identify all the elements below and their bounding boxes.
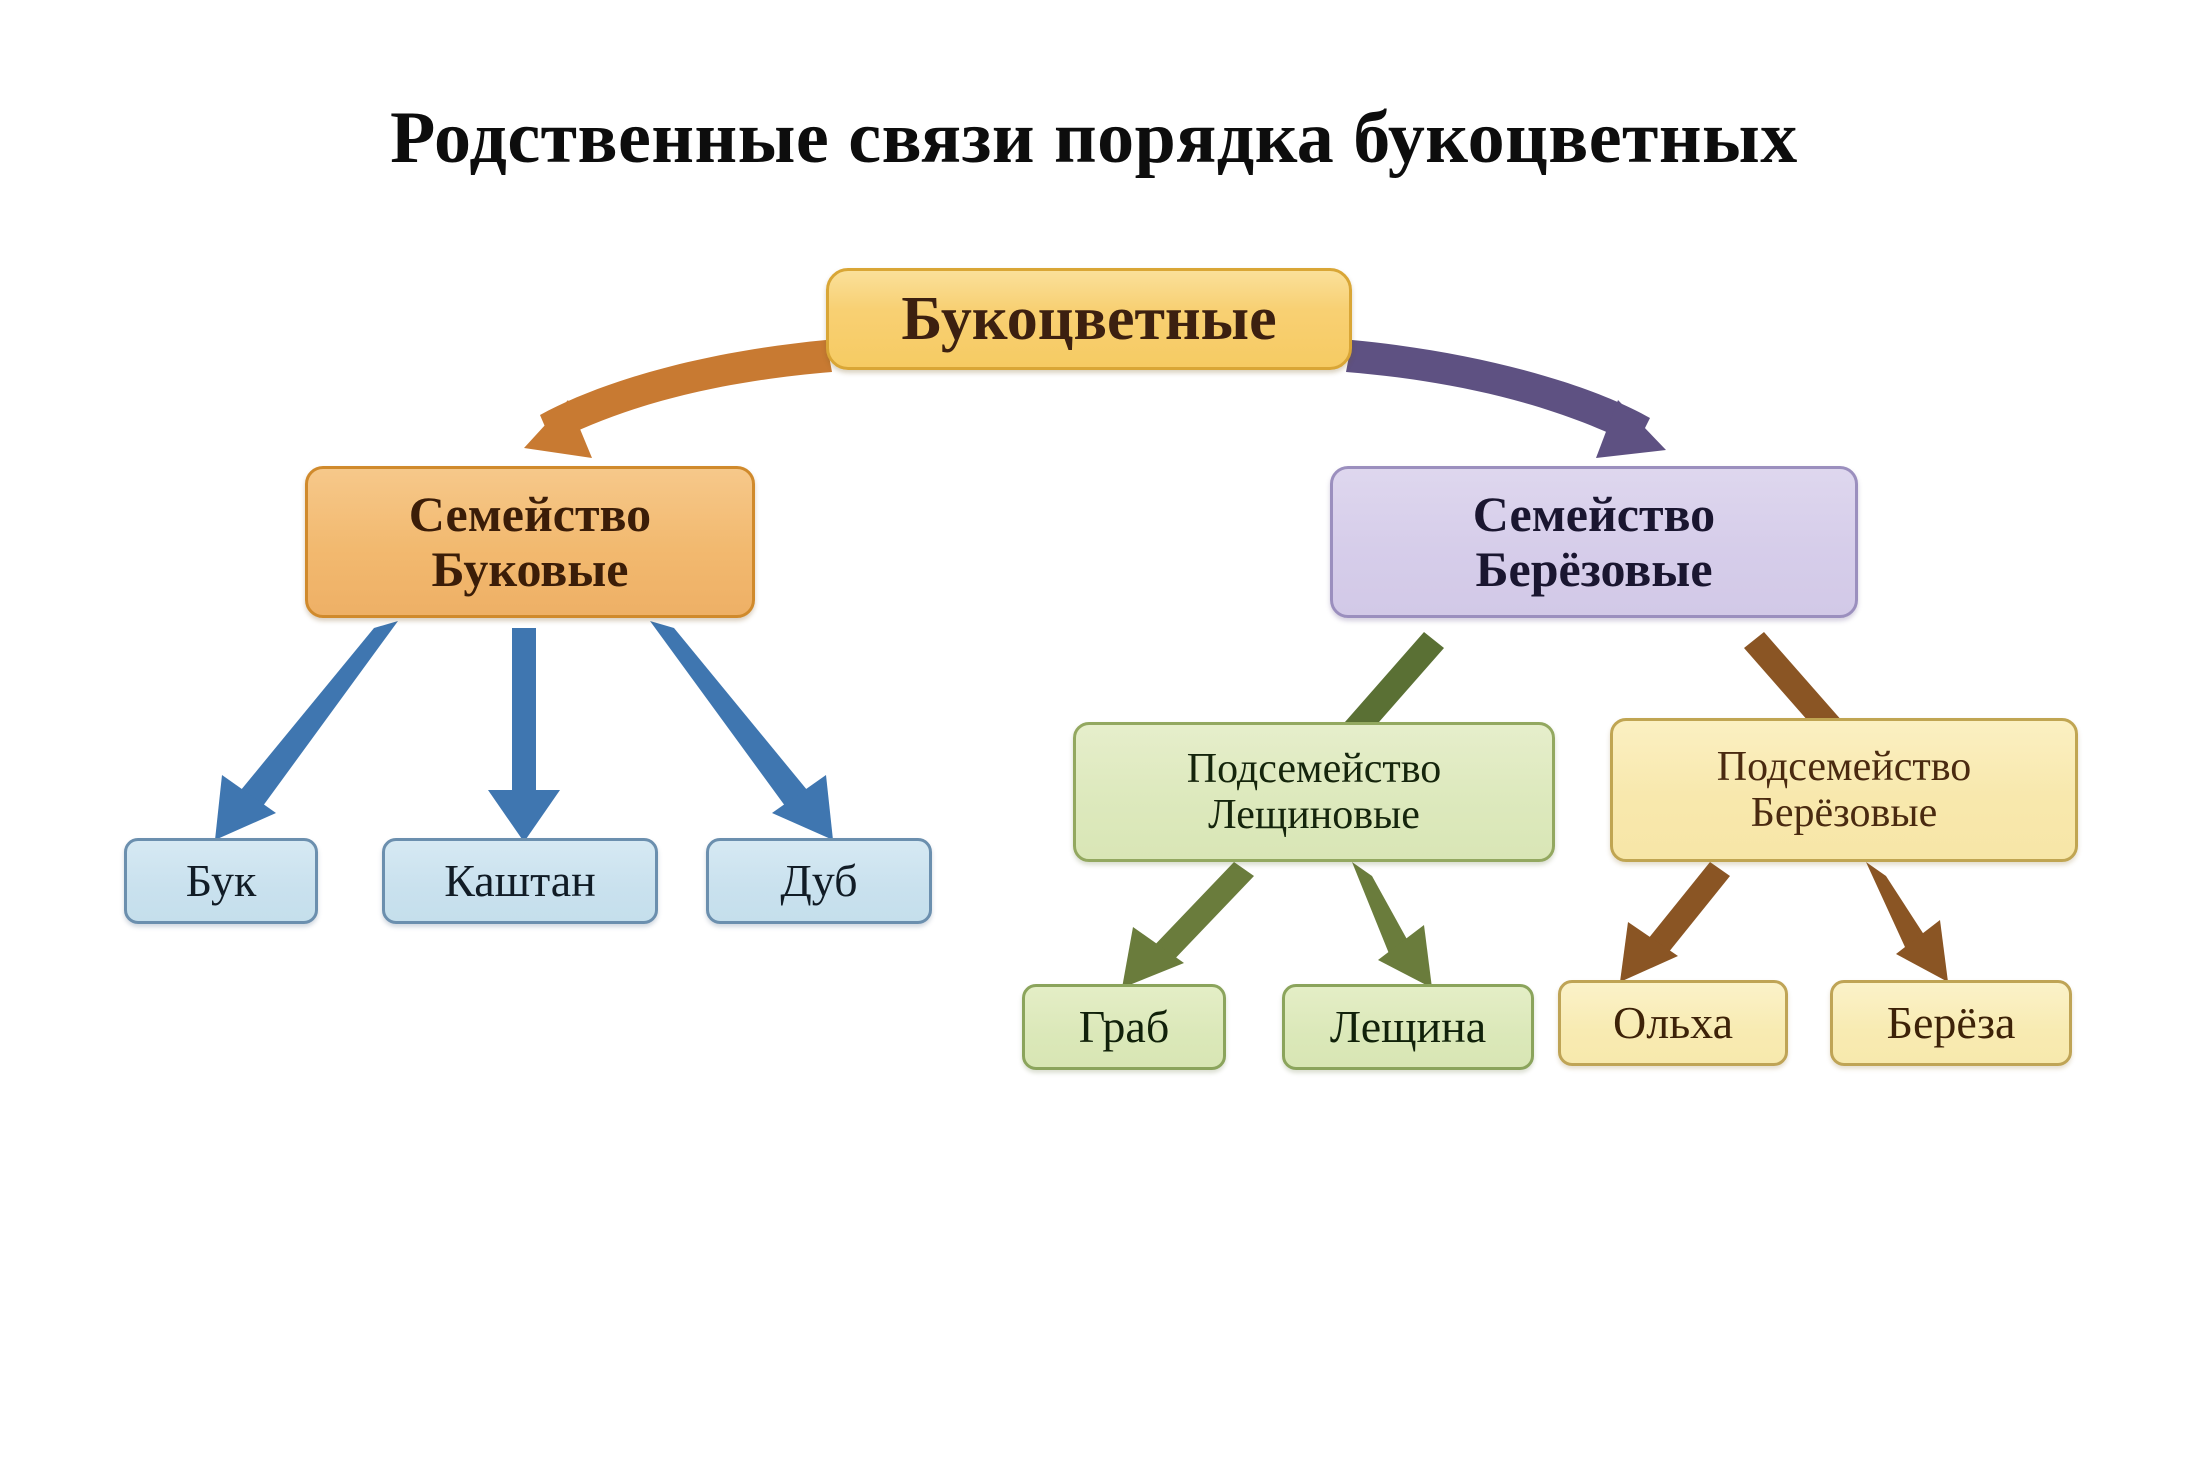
diagram-canvas: Родственные связи порядка букоцветных — [0, 0, 2188, 1462]
node-family-betulaceae[interactable]: Семейство Берёзовые — [1330, 466, 1858, 618]
edge-beech-family-to-oak — [650, 621, 833, 840]
node-genus-chestnut[interactable]: Каштан — [382, 838, 658, 924]
node-order-fagales[interactable]: Букоцветные — [826, 268, 1352, 370]
edge-hazel-subfamily-to-hornbeam — [1122, 862, 1254, 988]
node-subfamily-betuloideae[interactable]: Подсемейство Берёзовые — [1610, 718, 2078, 862]
edge-birch-subfamily-to-birch — [1866, 862, 1948, 982]
node-genus-hazel[interactable]: Лещина — [1282, 984, 1534, 1070]
page-title: Родственные связи порядка букоцветных — [0, 96, 2188, 181]
node-genus-birch[interactable]: Берёза — [1830, 980, 2072, 1066]
edge-beech-family-to-chestnut — [488, 628, 560, 842]
node-genus-alder[interactable]: Ольха — [1558, 980, 1788, 1066]
edge-order-to-beech-family — [524, 340, 832, 458]
edge-order-to-birch-family — [1346, 340, 1666, 458]
node-genus-oak[interactable]: Дуб — [706, 838, 932, 924]
node-family-fagaceae[interactable]: Семейство Буковые — [305, 466, 755, 618]
node-genus-hornbeam[interactable]: Граб — [1022, 984, 1226, 1070]
edge-hazel-subfamily-to-hazel — [1352, 862, 1432, 988]
edge-beech-family-to-beech — [215, 621, 398, 840]
edge-birch-subfamily-to-alder — [1620, 862, 1730, 982]
node-subfamily-coryloideae[interactable]: Подсемейство Лещиновые — [1073, 722, 1555, 862]
node-genus-beech[interactable]: Бук — [124, 838, 318, 924]
